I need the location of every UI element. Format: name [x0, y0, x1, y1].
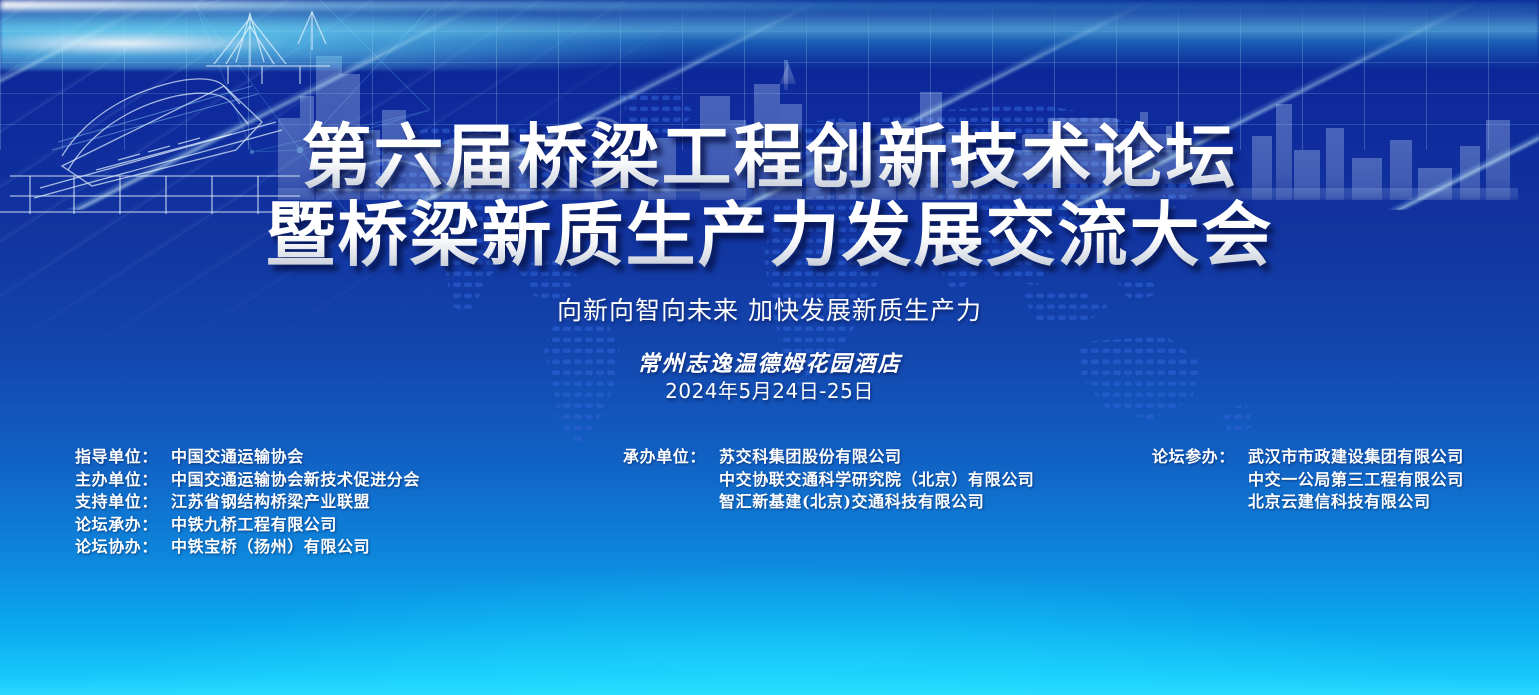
organizer-row: 承办单位： 中交协联交通科学研究院（北京）有限公司 [623, 469, 1034, 492]
main-title: 第六届桥梁工程创新技术论坛 暨桥梁新质生产力发展交流大会 [0, 118, 1539, 274]
organizer-value: 智汇新基建(北京)交通科技有限公司 [719, 491, 984, 514]
event-date: 2024年5月24日-25日 [0, 378, 1539, 404]
organizer-value: 中铁九桥工程有限公司 [171, 514, 337, 537]
venue-name: 常州志逸温德姆花园酒店 [0, 351, 1539, 378]
organizer-label: 论坛协办： [75, 536, 171, 559]
organizer-row: 支持单位： 江苏省钢结构桥梁产业联盟 [75, 491, 420, 514]
organizer-value: 中交协联交通科学研究院（北京）有限公司 [719, 469, 1034, 492]
organizer-column-left: 指导单位： 中国交通运输协会 主办单位： 中国交通运输协会新技术促进分会 支持单… [75, 446, 420, 559]
organizer-column-center: 承办单位： 苏交科集团股份有限公司 承办单位： 中交协联交通科学研究院（北京）有… [623, 446, 1034, 514]
organizer-row: 主办单位： 中国交通运输协会新技术促进分会 [75, 469, 420, 492]
conference-banner: 第六届桥梁工程创新技术论坛 暨桥梁新质生产力发展交流大会 向新向智向未来 加快发… [0, 0, 1539, 695]
organizer-row: 指导单位： 中国交通运输协会 [75, 446, 420, 469]
organizer-row: 论坛参办： 中交一公局第三工程有限公司 [1152, 469, 1464, 492]
banner-content: 第六届桥梁工程创新技术论坛 暨桥梁新质生产力发展交流大会 向新向智向未来 加快发… [0, 0, 1539, 695]
title-line-1: 第六届桥梁工程创新技术论坛 [0, 118, 1539, 196]
subtitle: 向新向智向未来 加快发展新质生产力 [0, 296, 1539, 326]
title-line-2: 暨桥梁新质生产力发展交流大会 [0, 196, 1539, 274]
organizer-value: 中国交通运输协会 [171, 446, 304, 469]
organizer-row: 论坛参办： 武汉市市政建设集团有限公司 [1152, 446, 1464, 469]
organizer-column-right: 论坛参办： 武汉市市政建设集团有限公司 论坛参办： 中交一公局第三工程有限公司 … [1152, 446, 1464, 514]
organizer-label: 论坛承办： [75, 514, 171, 537]
organizer-row: 论坛协办： 中铁宝桥（扬州）有限公司 [75, 536, 420, 559]
organizer-label: 承办单位： [623, 446, 719, 469]
organizer-label: 支持单位： [75, 491, 171, 514]
organizer-value: 江苏省钢结构桥梁产业联盟 [171, 491, 370, 514]
organizer-row: 承办单位： 苏交科集团股份有限公司 [623, 446, 1034, 469]
organizer-label: 论坛参办： [1152, 446, 1248, 469]
organizer-row: 论坛承办： 中铁九桥工程有限公司 [75, 514, 420, 537]
organizer-row: 承办单位： 智汇新基建(北京)交通科技有限公司 [623, 491, 1034, 514]
organizer-value: 苏交科集团股份有限公司 [719, 446, 902, 469]
organizer-value: 中国交通运输协会新技术促进分会 [171, 469, 420, 492]
organizer-value: 中铁宝桥（扬州）有限公司 [171, 536, 370, 559]
organizer-value: 武汉市市政建设集团有限公司 [1248, 446, 1464, 469]
organizer-row: 论坛参办： 北京云建信科技有限公司 [1152, 491, 1464, 514]
organizer-label: 主办单位： [75, 469, 171, 492]
organizer-value: 北京云建信科技有限公司 [1248, 491, 1431, 514]
organizer-value: 中交一公局第三工程有限公司 [1248, 469, 1464, 492]
organizer-label: 指导单位： [75, 446, 171, 469]
